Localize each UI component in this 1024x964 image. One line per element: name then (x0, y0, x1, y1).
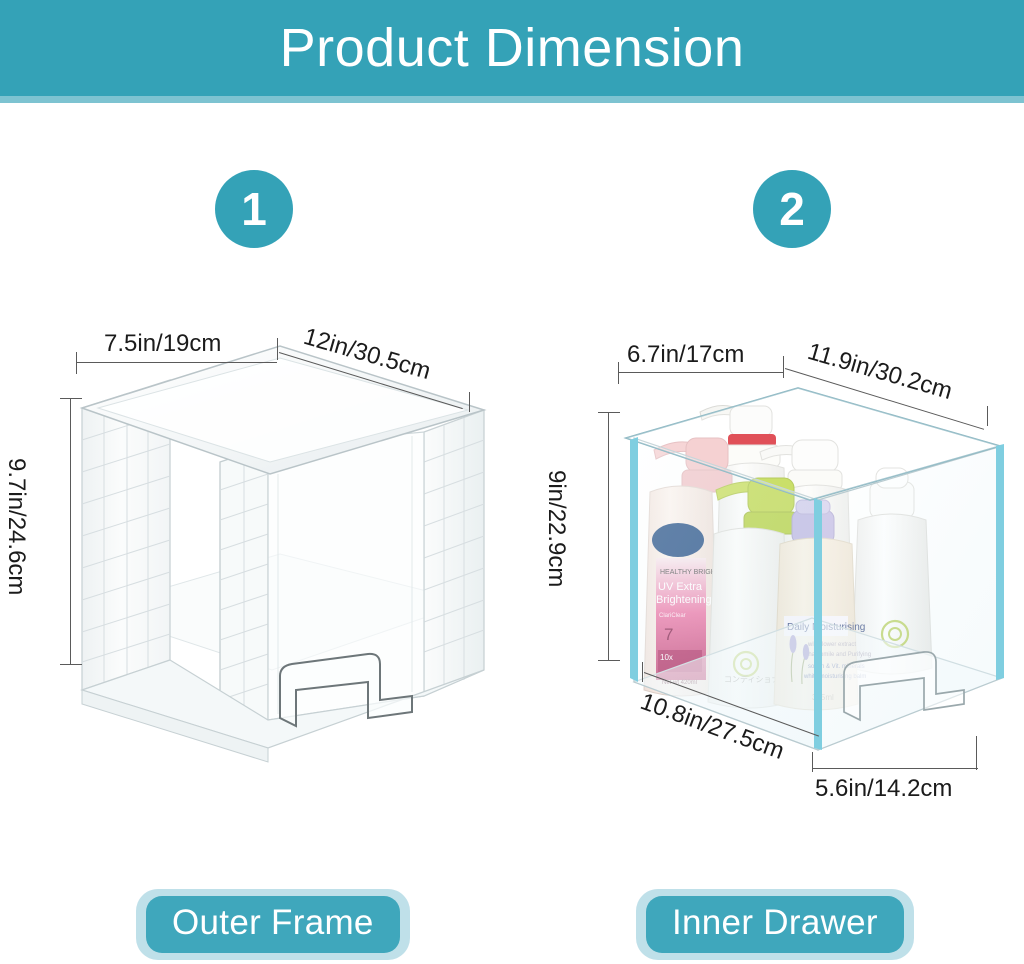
p2-bottom-width-label: 5.6in/14.2cm (815, 775, 952, 803)
p2-depth-tick-right (987, 406, 988, 426)
step-badge-2-number: 2 (779, 182, 805, 236)
front-ribbed-column (220, 446, 268, 738)
caption-inner-drawer-label: Inner Drawer (646, 896, 904, 953)
p2-top-width-line (618, 372, 783, 373)
p2-height-label: 9in/22.9cm (542, 470, 570, 587)
p2-bottom-depth-tick-left (642, 662, 643, 682)
caption-outer-frame-label: Outer Frame (146, 896, 400, 953)
p1-top-width-tick-right (277, 338, 278, 360)
header-banner: Product Dimension (0, 0, 1024, 96)
p2-bottom-width-tick-left (812, 752, 813, 772)
step-badge-2: 2 (753, 170, 831, 248)
p2-bottom-width-tick-right (976, 736, 977, 770)
p2-width-label: 6.7in/17cm (627, 341, 744, 369)
p1-height-tick-top (60, 398, 82, 399)
outer-frame-illustration (72, 370, 492, 790)
right-ribbed-wall (424, 410, 484, 696)
p2-top-width-tick-right (783, 356, 784, 378)
p1-height-label: 9.7in/24.6cm (2, 458, 30, 595)
step-badge-1: 1 (215, 170, 293, 248)
caption-inner-drawer: Inner Drawer (636, 889, 914, 960)
caption-outer-frame: Outer Frame (136, 889, 410, 960)
outer-frame-svg (72, 370, 492, 790)
p2-height-tick-top (598, 412, 620, 413)
page-title: Product Dimension (280, 17, 745, 79)
p2-bottom-width-line (812, 768, 978, 769)
step-badge-1-number: 1 (241, 182, 267, 236)
p1-height-tick-bottom (60, 664, 82, 665)
header-banner-underline (0, 96, 1024, 103)
p1-depth-tick-right (469, 392, 470, 412)
p1-top-width-line (76, 362, 277, 363)
product-dimension-infographic: Product Dimension 1 2 (0, 0, 1024, 964)
p2-height-tick-bottom (598, 660, 620, 661)
p1-height-line (70, 398, 71, 664)
p1-width-label: 7.5in/19cm (104, 330, 221, 358)
p2-height-line (608, 412, 609, 660)
